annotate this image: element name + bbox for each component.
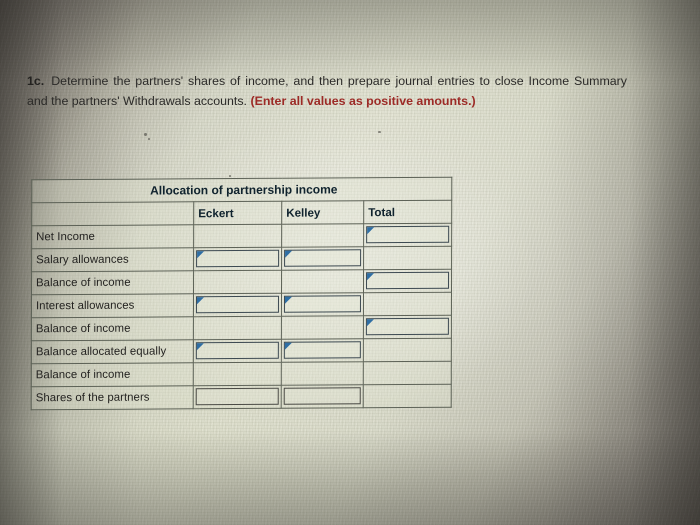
input-eckert[interactable] [196, 250, 279, 268]
input-kelley[interactable] [284, 341, 361, 358]
table-row: Balance allocated equally [31, 338, 451, 364]
cell-kelley [282, 224, 364, 248]
cell-total[interactable] [364, 223, 452, 247]
row-label: Balance of income [32, 271, 194, 295]
table-row: Balance of income [31, 315, 451, 341]
column-header-total: Total [364, 200, 452, 224]
input-eckert[interactable] [196, 296, 279, 314]
column-header-label [32, 202, 194, 226]
row-label: Interest allowances [31, 294, 193, 318]
column-header-kelley: Kelley [282, 201, 364, 225]
cell-kelley [281, 270, 363, 294]
cell-kelley[interactable] [281, 385, 363, 409]
row-label: Balance of income [31, 363, 193, 387]
input-eckert[interactable] [196, 342, 279, 360]
table-row: Net Income [32, 223, 452, 249]
row-label: Balance allocated equally [31, 340, 193, 364]
row-label: Shares of the partners [31, 386, 193, 410]
input-total[interactable] [366, 318, 449, 336]
cell-eckert[interactable] [193, 339, 281, 363]
cell-kelley[interactable] [281, 339, 363, 363]
input-kelley[interactable] [284, 249, 361, 266]
allocation-of-partnership-income-table: Allocation of partnership income Eckert … [31, 177, 453, 411]
question-text: Determine the partners' shares of income… [27, 74, 627, 108]
table-title-row: Allocation of partnership income [32, 177, 452, 203]
allocation-table-wrapper: Allocation of partnership income Eckert … [31, 177, 452, 411]
cell-total [363, 292, 451, 316]
question-number: 1c. [27, 74, 44, 88]
cell-total[interactable] [363, 315, 451, 339]
cell-eckert [194, 224, 282, 248]
input-eckert[interactable] [196, 388, 279, 406]
cell-total [364, 246, 452, 270]
cell-kelley[interactable] [282, 247, 364, 271]
cell-total [363, 384, 451, 408]
cell-total[interactable] [363, 269, 451, 293]
cell-kelley [281, 316, 363, 340]
row-label: Salary allowances [32, 248, 194, 272]
input-total[interactable] [366, 272, 449, 290]
cell-eckert[interactable] [193, 293, 281, 317]
table-header-row: Eckert Kelley Total [32, 200, 452, 226]
cell-eckert[interactable] [194, 247, 282, 271]
table-row: Interest allowances [31, 292, 451, 318]
table-row: Balance of income [31, 361, 451, 387]
question-emphasis: (Enter all values as positive amounts.) [250, 94, 475, 108]
cell-eckert [194, 270, 282, 294]
row-label: Net Income [32, 225, 194, 249]
cell-kelley [281, 362, 363, 386]
table-title: Allocation of partnership income [32, 177, 452, 203]
cell-eckert [193, 316, 281, 340]
cell-total [363, 338, 451, 362]
cell-total [363, 361, 451, 385]
table-row: Salary allowances [32, 246, 452, 272]
input-kelley[interactable] [284, 387, 361, 404]
input-kelley[interactable] [284, 295, 361, 312]
input-total[interactable] [366, 226, 449, 244]
table-row: Balance of income [32, 269, 452, 295]
question-line-1: Determine the partners' shares of income… [51, 74, 523, 88]
question-block: 1c.Determine the partners' shares of inc… [27, 72, 627, 111]
cell-kelley[interactable] [281, 293, 363, 317]
cell-eckert[interactable] [193, 385, 281, 409]
table-row: Shares of the partners [31, 384, 451, 410]
screenshot-root: 1c.Determine the partners' shares of inc… [0, 0, 700, 525]
cell-eckert [193, 362, 281, 386]
column-header-eckert: Eckert [194, 201, 282, 225]
row-label: Balance of income [31, 317, 193, 341]
